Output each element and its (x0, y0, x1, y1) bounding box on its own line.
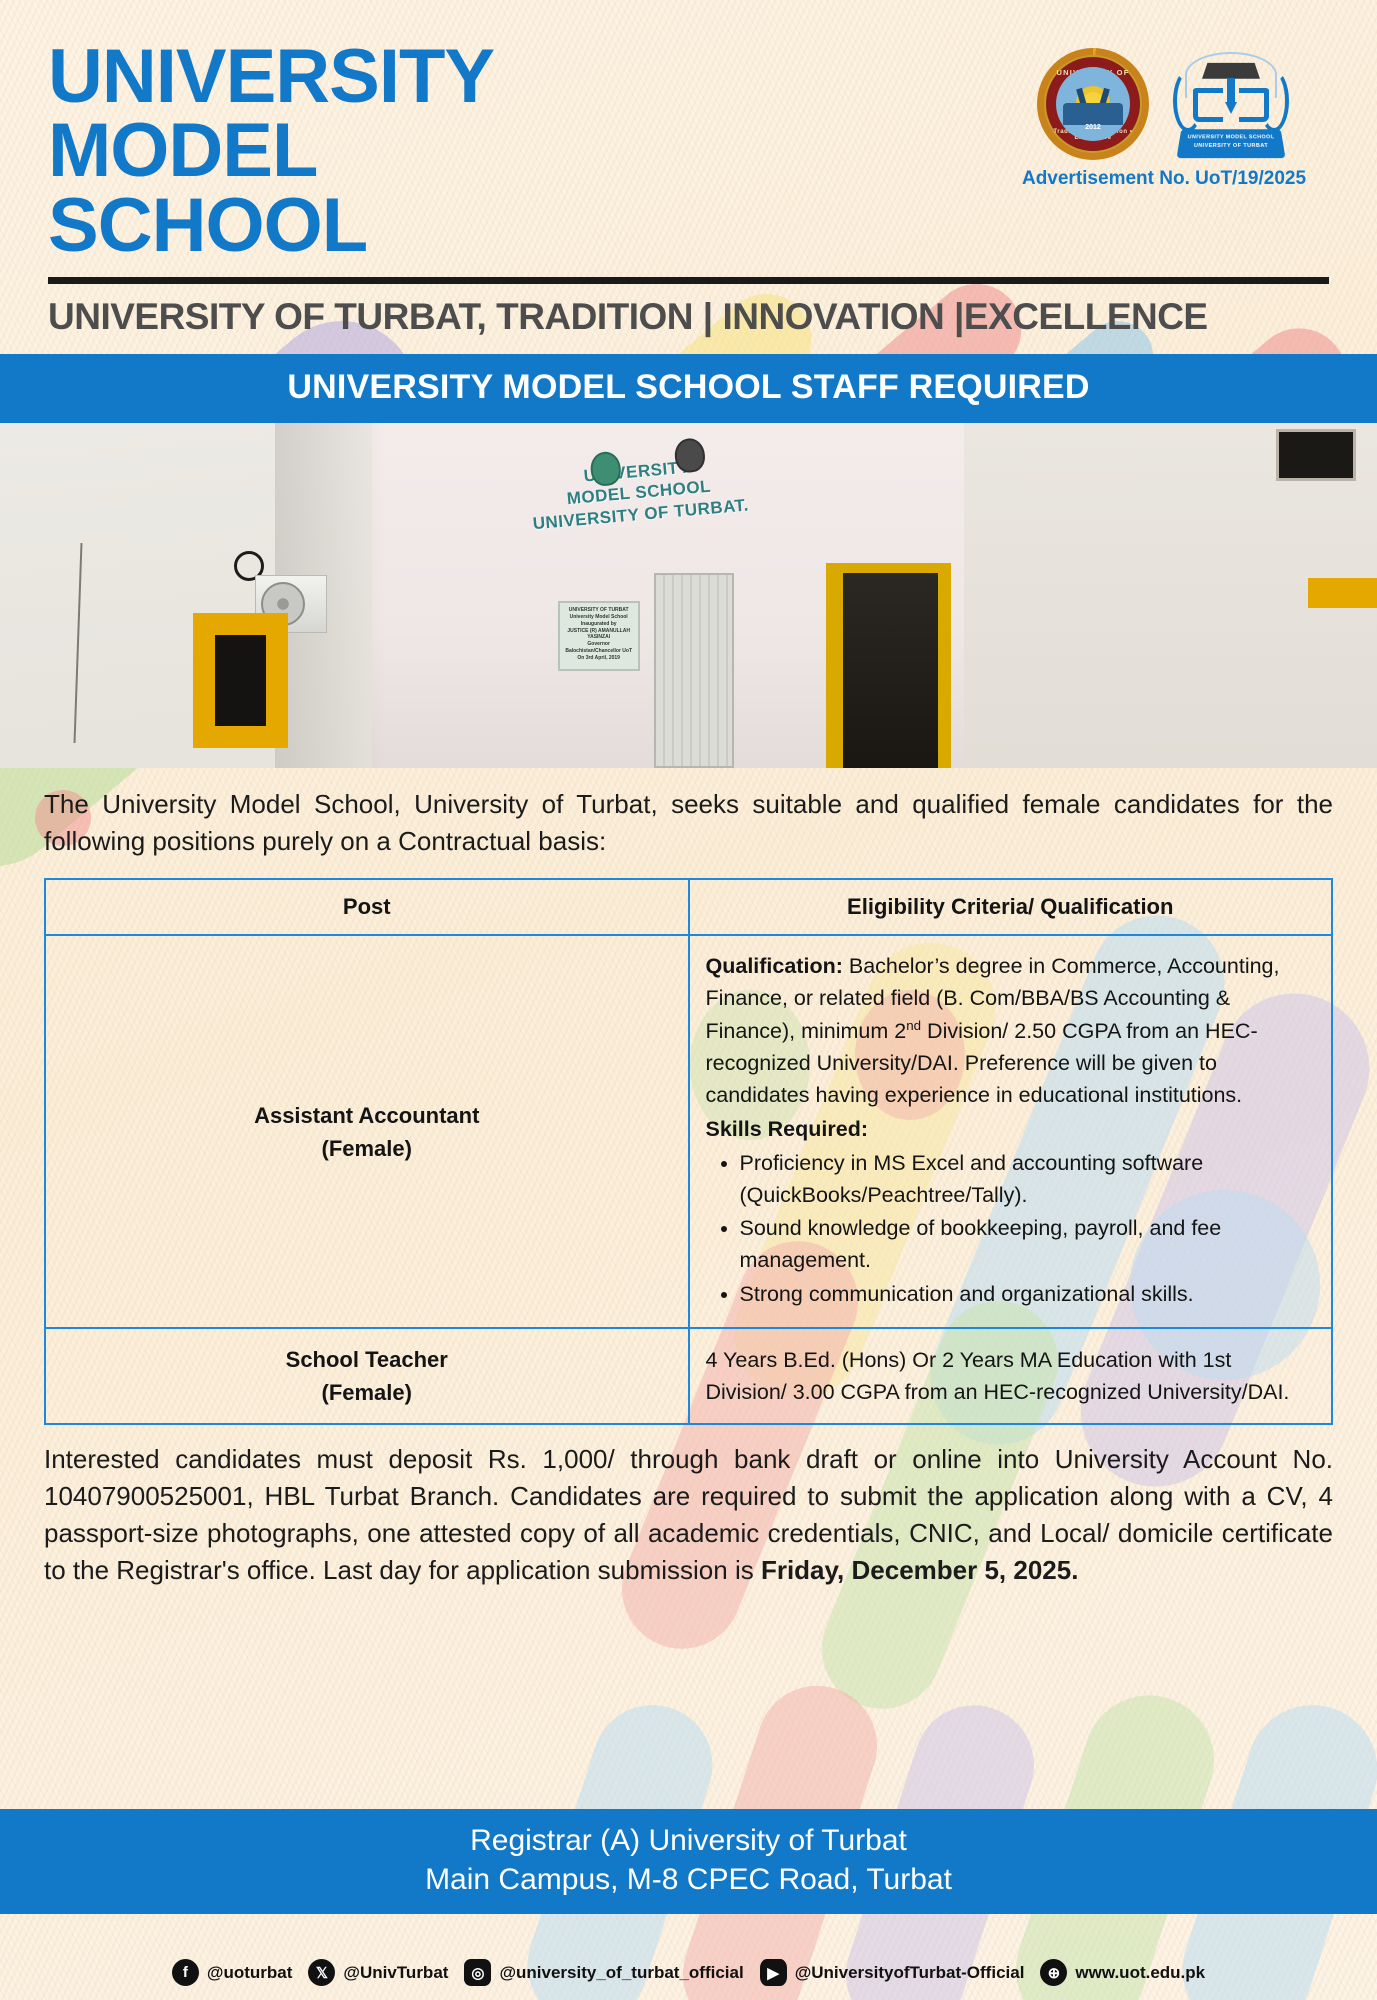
staff-required-banner: UNIVERSITY MODEL SCHOOL STAFF REQUIRED (0, 354, 1377, 423)
book-right-icon (1239, 88, 1269, 122)
post-title: Assistant Accountant (254, 1103, 479, 1128)
youtube-handle: @UniversityofTurbat-Official (795, 1963, 1025, 1983)
post-school-teacher: School Teacher (Female) (45, 1328, 689, 1424)
post-gender: (Female) (322, 1136, 412, 1161)
table-header-row: Post Eligibility Criteria/ Qualification (45, 879, 1332, 935)
instagram-handle: @university_of_turbat_official (499, 1963, 743, 1983)
logo-ribbon-line1: UNIVERSITY MODEL SCHOOL (1187, 135, 1275, 141)
social-instagram[interactable]: ◎ @university_of_turbat_official (464, 1959, 743, 1986)
positions-table: Post Eligibility Criteria/ Qualification… (44, 878, 1333, 1425)
footer-address-bar: Registrar (A) University of Turbat Main … (0, 1809, 1377, 1914)
criteria-assistant-accountant: Qualification: Bachelor’s degree in Comm… (689, 935, 1333, 1328)
logo-block: UNIVERSITY OF TURBAT Tradition • Innovat… (999, 40, 1329, 190)
website-url: www.uot.edu.pk (1075, 1963, 1205, 1983)
header-divider (48, 277, 1329, 284)
qualification-superscript: nd (906, 1018, 921, 1033)
graduation-cap-icon (1202, 63, 1260, 79)
table-header: Post Eligibility Criteria/ Qualification (45, 879, 1332, 935)
poster-page: UNIVERSITY MODEL SCHOOL UNIVERSITY OF TU… (0, 0, 1377, 2000)
closing-text: Interested candidates must deposit Rs. 1… (44, 1444, 1333, 1585)
pen-nib-icon (1225, 102, 1237, 114)
inauguration-plaque: UNIVERSITY OF TURBAT University Model Sc… (558, 601, 640, 671)
logo-ribbon-line2: UNIVERSITY OF TURBAT (1193, 143, 1268, 149)
logo-ribbon: UNIVERSITY MODEL SCHOOL UNIVERSITY OF TU… (1176, 129, 1285, 158)
plaque-line1: UNIVERSITY OF TURBAT (560, 607, 638, 614)
page-title-line2: SCHOOL (48, 183, 367, 268)
skills-required-label: Skills Required: (706, 1113, 1316, 1145)
logo-row: UNIVERSITY OF TURBAT Tradition • Innovat… (1037, 48, 1291, 160)
list-item: Sound knowledge of bookkeeping, payroll,… (740, 1213, 1316, 1277)
book-left-icon (1193, 88, 1223, 122)
right-yellow-ledge (1308, 578, 1377, 608)
plaque-line3: Inaugurated by (560, 621, 638, 628)
post-title: School Teacher (286, 1347, 448, 1372)
upper-right-window (1276, 429, 1356, 481)
x-twitter-icon: 𝕏 (308, 1959, 335, 1986)
skills-list: Proficiency in MS Excel and accounting s… (740, 1148, 1316, 1311)
entrance-doorway (843, 573, 938, 768)
youtube-icon: ▶ (760, 1959, 787, 1986)
main-content: The University Model School, University … (0, 768, 1377, 1424)
post-assistant-accountant: Assistant Accountant (Female) (45, 935, 689, 1328)
table-body: Assistant Accountant (Female) Qualificat… (45, 935, 1332, 1424)
social-media-bar: f @uoturbat 𝕏 @UnivTurbat ◎ @university_… (0, 1959, 1377, 1986)
title-block: UNIVERSITY MODEL SCHOOL (48, 40, 999, 263)
photo-content: UNIVERSITY MODEL SCHOOL UNIVERSITY OF TU… (0, 423, 1377, 768)
website-icon: ⊕ (1040, 1959, 1067, 1986)
crest-inner-disc: 2012 (1056, 67, 1130, 141)
yellow-window-frame (193, 613, 288, 748)
university-model-school-logo-icon: UNIVERSITY MODEL SCHOOL UNIVERSITY OF TU… (1171, 48, 1291, 160)
page-title: UNIVERSITY MODEL SCHOOL (48, 40, 748, 263)
plaque-line4: JUSTICE (R) AMANULLAH YASINZAI (560, 628, 638, 642)
list-item: Strong communication and organizational … (740, 1279, 1316, 1311)
instagram-icon: ◎ (464, 1959, 491, 1986)
intro-paragraph: The University Model School, University … (44, 786, 1333, 860)
social-facebook[interactable]: f @uoturbat (172, 1959, 293, 1986)
university-of-turbat-crest-icon: UNIVERSITY OF TURBAT Tradition • Innovat… (1037, 48, 1149, 160)
pen-icon (1227, 78, 1235, 104)
closing-paragraph: Interested candidates must deposit Rs. 1… (0, 1425, 1377, 1589)
post-gender: (Female) (322, 1380, 412, 1405)
facebook-icon: f (172, 1959, 199, 1986)
poster-header: UNIVERSITY MODEL SCHOOL UNIVERSITY OF TU… (0, 0, 1377, 263)
table-row: Assistant Accountant (Female) Qualificat… (45, 935, 1332, 1328)
criteria-school-teacher: 4 Years B.Ed. (Hons) Or 2 Years MA Educa… (689, 1328, 1333, 1424)
column-header-criteria: Eligibility Criteria/ Qualification (689, 879, 1333, 935)
column-header-post: Post (45, 879, 689, 935)
list-item: Proficiency in MS Excel and accounting s… (740, 1148, 1316, 1212)
entrance-door-panel (654, 573, 734, 768)
plaque-line5: Governor Balochistan/Chancellor UoT (560, 641, 638, 655)
plaque-line2: University Model School (560, 614, 638, 621)
qualification-paragraph: Qualification: Bachelor’s degree in Comm… (706, 950, 1316, 1111)
social-x-twitter[interactable]: 𝕏 @UnivTurbat (308, 1959, 448, 1986)
application-deadline: Friday, December 5, 2025. (761, 1555, 1078, 1585)
qualification-label: Qualification: (706, 954, 843, 978)
advertisement-number: Advertisement No. UoT/19/2025 (1022, 168, 1306, 190)
school-building-photo: UNIVERSITY MODEL SCHOOL UNIVERSITY OF TU… (0, 423, 1377, 768)
tagline: UNIVERSITY OF TURBAT, TRADITION | INNOVA… (0, 284, 1377, 354)
x-twitter-handle: @UnivTurbat (343, 1963, 448, 1983)
footer-line1: Registrar (A) University of Turbat (0, 1821, 1377, 1861)
social-youtube[interactable]: ▶ @UniversityofTurbat-Official (760, 1959, 1025, 1986)
table-row: School Teacher (Female) 4 Years B.Ed. (H… (45, 1328, 1332, 1424)
plaque-line6: On 3rd April, 2019 (560, 655, 638, 662)
page-title-line1: UNIVERSITY MODEL (48, 34, 493, 193)
crest-year: 2012 (1056, 124, 1130, 131)
crest-book-icon (1063, 103, 1122, 125)
social-website[interactable]: ⊕ www.uot.edu.pk (1040, 1959, 1205, 1986)
facebook-handle: @uoturbat (207, 1963, 293, 1983)
footer-line2: Main Campus, M-8 CPEC Road, Turbat (0, 1860, 1377, 1900)
